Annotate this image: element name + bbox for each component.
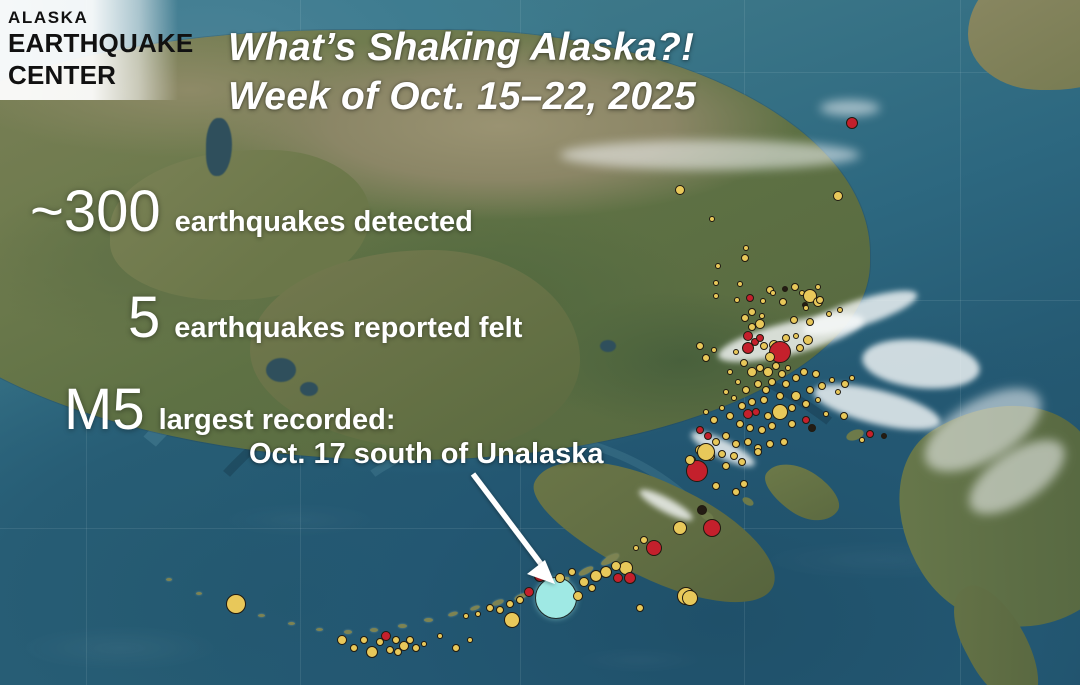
stat-largest-number: M5 [64, 381, 145, 439]
earthquake-marker [748, 398, 756, 406]
page-title-line1: What’s Shaking Alaska?! [228, 26, 694, 70]
earthquake-marker [746, 424, 754, 432]
earthquake-marker [697, 505, 707, 515]
earthquake-marker [748, 308, 756, 316]
earthquake-marker [779, 298, 787, 306]
earthquake-marker [736, 420, 744, 428]
earthquake-marker [806, 386, 814, 394]
earthquake-marker [823, 411, 829, 417]
earthquake-marker [737, 281, 743, 287]
earthquake-marker [636, 604, 644, 612]
earthquake-marker [718, 450, 726, 458]
earthquake-marker [726, 412, 734, 420]
earthquake-marker [743, 245, 749, 251]
earthquake-marker [673, 521, 687, 535]
earthquake-marker [723, 389, 729, 395]
earthquake-marker [675, 185, 685, 195]
earthquake-marker [752, 408, 760, 416]
earthquake-marker [803, 335, 813, 345]
earthquake-marker [496, 606, 504, 614]
earthquake-marker [841, 380, 849, 388]
earthquake-marker [702, 354, 710, 362]
earthquake-marker [733, 349, 739, 355]
stat-detected-number: ~300 [30, 183, 161, 241]
earthquake-marker [732, 440, 740, 448]
earthquake-marker [731, 395, 737, 401]
earthquake-marker [712, 438, 720, 446]
earthquake-marker [782, 380, 790, 388]
earthquake-marker [703, 519, 721, 537]
stat-felt-number: 5 [128, 289, 160, 347]
earthquake-marker [849, 375, 855, 381]
earthquake-marker [833, 191, 843, 201]
earthquake-marker [741, 254, 749, 262]
earthquake-marker [506, 600, 514, 608]
earthquake-marker [412, 644, 420, 652]
earthquake-marker [754, 380, 762, 388]
earthquake-marker [381, 631, 391, 641]
earthquake-marker [452, 644, 460, 652]
earthquake-marker [709, 216, 715, 222]
earthquake-marker [734, 297, 740, 303]
earthquake-marker [764, 412, 772, 420]
earthquake-marker [697, 443, 715, 461]
earthquake-marker [742, 342, 754, 354]
earthquake-marker [746, 294, 754, 302]
earthquake-marker [808, 424, 816, 432]
earthquake-marker [776, 392, 784, 400]
earthquake-marker [406, 636, 414, 644]
earthquake-marker [611, 561, 621, 571]
stat-detected-label: earthquakes detected [175, 208, 473, 237]
logo-line-center: CENTER [8, 62, 116, 88]
earthquake-marker [755, 319, 765, 329]
earthquake-marker [703, 409, 709, 415]
earthquake-marker [646, 540, 662, 556]
earthquake-marker [788, 420, 796, 428]
earthquake-marker [772, 362, 780, 370]
earthquake-marker [791, 283, 799, 291]
earthquake-marker [803, 305, 809, 311]
earthquake-marker [785, 365, 791, 371]
earthquake-marker [437, 633, 443, 639]
earthquake-marker [504, 612, 520, 628]
earthquake-marker [696, 426, 704, 434]
earthquake-marker [590, 570, 602, 582]
earthquake-marker [772, 404, 788, 420]
earthquake-marker [782, 286, 788, 292]
stat-earthquakes-felt: 5 earthquakes reported felt [128, 289, 522, 347]
earthquake-marker [722, 432, 730, 440]
earthquake-marker [350, 644, 358, 652]
earthquake-marker [829, 377, 835, 383]
earthquake-marker [742, 386, 750, 394]
earthquake-marker [704, 432, 712, 440]
earthquake-marker [778, 370, 786, 378]
earthquake-marker [712, 482, 720, 490]
earthquake-marker [802, 416, 810, 424]
earthquake-marker [760, 298, 766, 304]
earthquake-marker [475, 611, 481, 617]
whats-shaking-alaska-graphic: ALASKA EARTHQUAKE CENTER What’s Shaking … [0, 0, 1080, 685]
earthquake-marker [740, 480, 748, 488]
earthquake-marker [835, 389, 841, 395]
earthquake-marker [826, 311, 832, 317]
annotation-arrow-icon [455, 460, 585, 600]
earthquake-marker [812, 370, 820, 378]
earthquake-marker [710, 416, 718, 424]
earthquake-marker [815, 397, 821, 403]
earthquake-marker [421, 641, 427, 647]
earthquake-marker [762, 386, 770, 394]
earthquake-marker [840, 412, 848, 420]
earthquake-marker [738, 458, 746, 466]
earthquake-marker [719, 405, 725, 411]
page-title-line2: Week of Oct. 15–22, 2025 [228, 75, 696, 119]
earthquake-marker [711, 347, 717, 353]
earthquake-marker [226, 594, 246, 614]
earthquake-marker [682, 590, 698, 606]
earthquake-marker [760, 342, 768, 350]
earthquake-marker [782, 334, 790, 342]
earthquake-marker [741, 314, 749, 322]
stat-largest-label: largest recorded: [159, 406, 396, 435]
earthquake-marker [816, 296, 824, 304]
earthquake-marker [386, 646, 394, 654]
earthquake-marker [730, 452, 738, 460]
earthquake-marker [818, 382, 826, 390]
earthquake-marker [463, 613, 469, 619]
earthquake-marker [624, 572, 636, 584]
aec-logo-panel[interactable]: ALASKA EARTHQUAKE CENTER [0, 0, 178, 100]
earthquake-marker [744, 438, 752, 446]
earthquake-marker [765, 352, 775, 362]
earthquake-marker [756, 334, 764, 342]
earthquake-marker [766, 440, 774, 448]
earthquake-marker [366, 646, 378, 658]
earthquake-marker [696, 342, 704, 350]
earthquake-marker [791, 391, 801, 401]
earthquake-marker [770, 290, 776, 296]
stat-felt-label: earthquakes reported felt [174, 314, 522, 343]
earthquake-marker [715, 263, 721, 269]
earthquake-marker [768, 378, 776, 386]
earthquake-marker [802, 400, 810, 408]
earthquake-marker [815, 284, 821, 290]
earthquake-marker [793, 333, 799, 339]
earthquake-marker [788, 404, 796, 412]
earthquake-marker [722, 462, 730, 470]
logo-line-alaska: ALASKA [8, 9, 88, 26]
earthquake-marker [760, 396, 768, 404]
earthquake-marker [790, 316, 798, 324]
earthquake-marker [486, 604, 494, 612]
earthquake-marker [740, 359, 748, 367]
earthquake-marker [866, 430, 874, 438]
earthquake-marker [837, 307, 843, 313]
earthquake-marker [713, 293, 719, 299]
earthquake-marker [768, 422, 776, 430]
earthquake-marker [859, 437, 865, 443]
earthquake-marker [360, 636, 368, 644]
earthquake-marker [800, 368, 808, 376]
earthquake-marker [735, 379, 741, 385]
earthquake-marker [640, 536, 648, 544]
earthquake-marker [337, 635, 347, 645]
earthquake-marker [727, 369, 733, 375]
earthquake-marker [588, 584, 596, 592]
earthquake-marker [780, 438, 788, 446]
earthquake-marker [713, 280, 719, 286]
earthquake-marker [846, 117, 858, 129]
earthquake-marker [467, 637, 473, 643]
earthquake-marker [806, 318, 814, 326]
earthquake-marker [732, 488, 740, 496]
earthquake-marker [613, 573, 623, 583]
stat-largest-recorded: M5 largest recorded: [64, 381, 396, 439]
stat-earthquakes-detected: ~300 earthquakes detected [30, 183, 473, 241]
logo-line-earthquake: EARTHQUAKE [8, 30, 193, 56]
earthquake-marker [763, 367, 773, 377]
earthquake-marker [633, 545, 639, 551]
earthquake-marker [758, 426, 766, 434]
earthquake-marker [796, 344, 804, 352]
earthquake-marker [394, 648, 402, 656]
earthquake-marker [881, 433, 887, 439]
earthquake-marker [792, 374, 800, 382]
earthquake-marker [754, 448, 762, 456]
earthquake-marker [685, 455, 695, 465]
